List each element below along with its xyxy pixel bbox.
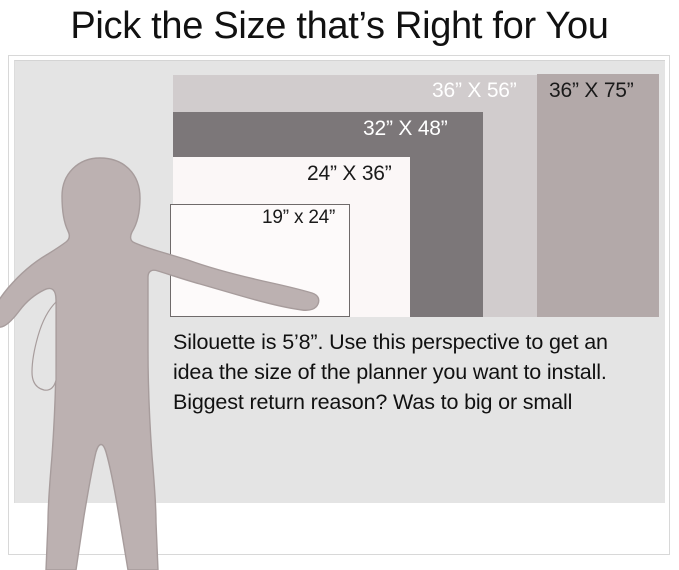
size-label-24x36: 24” X 36” — [307, 162, 392, 186]
page-title: Pick the Size that’s Right for You — [0, 0, 679, 52]
caption-line-1: Silouette is 5’8”. Use this perspective … — [173, 327, 663, 357]
caption-block: Silouette is 5’8”. Use this perspective … — [173, 327, 663, 417]
size-label-36x75: 36” X 75” — [549, 79, 634, 103]
poster-root: Pick the Size that’s Right for You 36” X… — [0, 0, 679, 570]
caption-line-3: Biggest return reason? Was to big or sma… — [173, 387, 663, 417]
size-label-32x48: 32” X 48” — [363, 117, 448, 141]
size-rect-36x75[interactable] — [537, 74, 659, 317]
caption-line-2: idea the size of the planner you want to… — [173, 357, 663, 387]
size-label-19x24: 19” x 24” — [262, 207, 335, 229]
size-label-36x56: 36” X 56” — [432, 79, 517, 103]
